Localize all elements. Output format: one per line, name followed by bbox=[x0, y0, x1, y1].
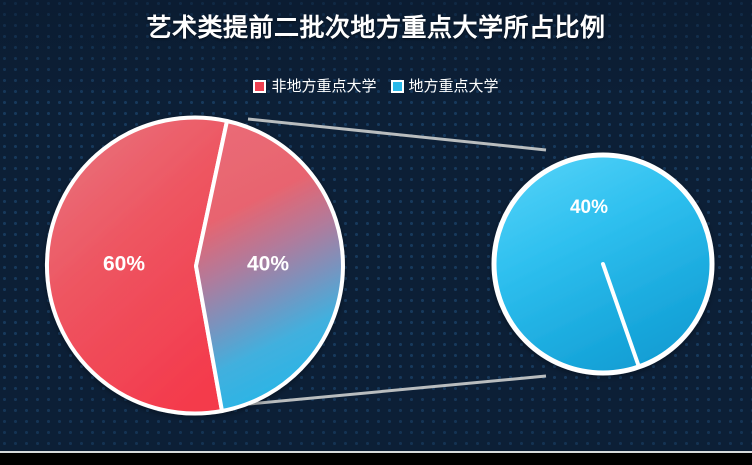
pie-slice-label-60: 60% bbox=[103, 253, 145, 276]
connector-line-top bbox=[248, 119, 546, 150]
main-pie-chart: 60% 40% bbox=[47, 117, 343, 413]
connector-line-bottom bbox=[249, 376, 546, 404]
bottom-black-strip bbox=[0, 453, 752, 465]
pie-slice-label-40: 40% bbox=[247, 253, 289, 276]
chart-canvas: 艺术类提前二批次地方重点大学所占比例 非地方重点大学 地方重点大学 bbox=[0, 0, 752, 465]
detail-pie-label-40: 40% bbox=[570, 197, 608, 218]
detail-pie-chart: 40% bbox=[494, 155, 712, 373]
chart-graphics: 60% 40% 40% bbox=[0, 0, 752, 465]
